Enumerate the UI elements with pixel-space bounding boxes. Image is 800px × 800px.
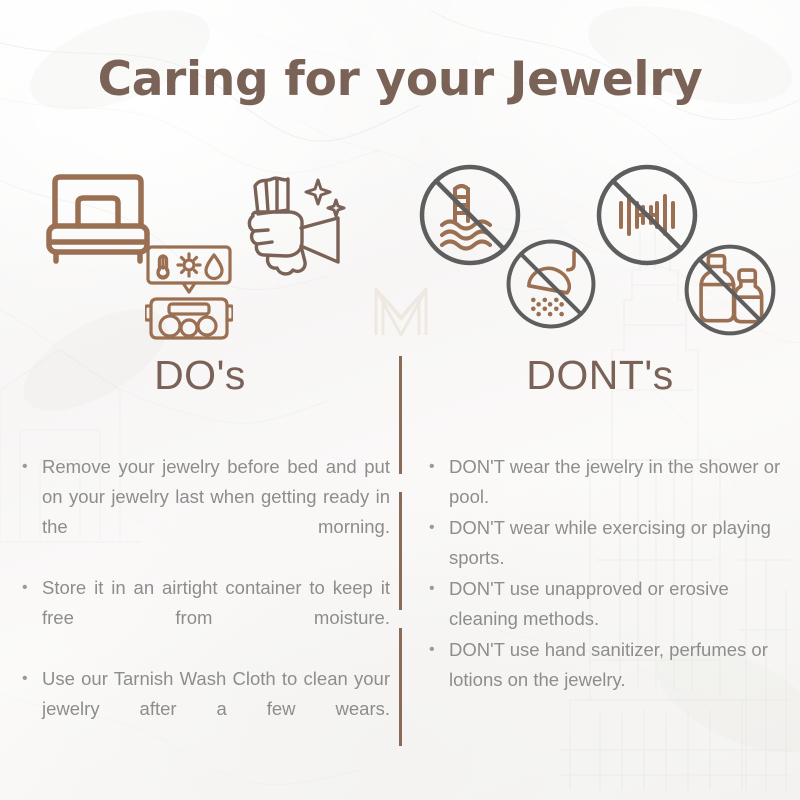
donts-list: • DON'T wear the jewelry in the shower o… [421, 452, 791, 696]
donts-item-text: DON'T use hand sanitizer, perfumes or lo… [449, 635, 791, 695]
list-item: • Store it in an airtight container to k… [14, 573, 390, 663]
bullet-icon: • [429, 452, 435, 482]
dos-list: • Remove your jewelry before bed and put… [14, 452, 390, 755]
bullet-icon: • [22, 573, 28, 603]
dos-heading: DO's [0, 352, 400, 399]
dos-item-text: Store it in an airtight container to kee… [42, 573, 390, 663]
bed-icon [44, 172, 152, 264]
bullet-icon: • [22, 452, 28, 482]
donts-item-text: DON'T wear while exercising or playing s… [449, 513, 791, 573]
list-item: • DON'T use unapproved or erosive cleani… [421, 574, 791, 634]
donts-item-text: DON'T wear the jewelry in the shower or … [449, 452, 791, 512]
m-monogram-logo-icon [371, 281, 431, 339]
no-swimming-pool-icon [418, 163, 522, 267]
list-item: • DON'T use hand sanitizer, perfumes or … [421, 635, 791, 695]
dos-item-text: Use our Tarnish Wash Cloth to clean your… [42, 664, 390, 754]
infographic-card: Caring for your Jewelry [0, 0, 800, 800]
polishing-cloth-icon [244, 170, 350, 282]
bullet-icon: • [429, 513, 435, 543]
list-item: • Remove your jewelry before bed and put… [14, 452, 390, 572]
donts-item-text: DON'T use unapproved or erosive cleaning… [449, 574, 791, 634]
storage-container-icon [145, 244, 233, 342]
bullet-icon: • [22, 664, 28, 694]
list-item: • Use our Tarnish Wash Cloth to clean yo… [14, 664, 390, 754]
list-item: • DON'T wear while exercising or playing… [421, 513, 791, 573]
column-divider [399, 356, 402, 760]
donts-heading: DONT's [400, 352, 800, 399]
bullet-icon: • [429, 635, 435, 665]
no-lotion-bottles-icon [683, 243, 777, 337]
no-gym-dumbbell-icon [595, 163, 699, 267]
list-item: • DON'T wear the jewelry in the shower o… [421, 452, 791, 512]
no-shower-icon [505, 238, 597, 330]
dos-item-text: Remove your jewelry before bed and put o… [42, 452, 390, 572]
page-title: Caring for your Jewelry [0, 52, 800, 107]
bullet-icon: • [429, 574, 435, 604]
